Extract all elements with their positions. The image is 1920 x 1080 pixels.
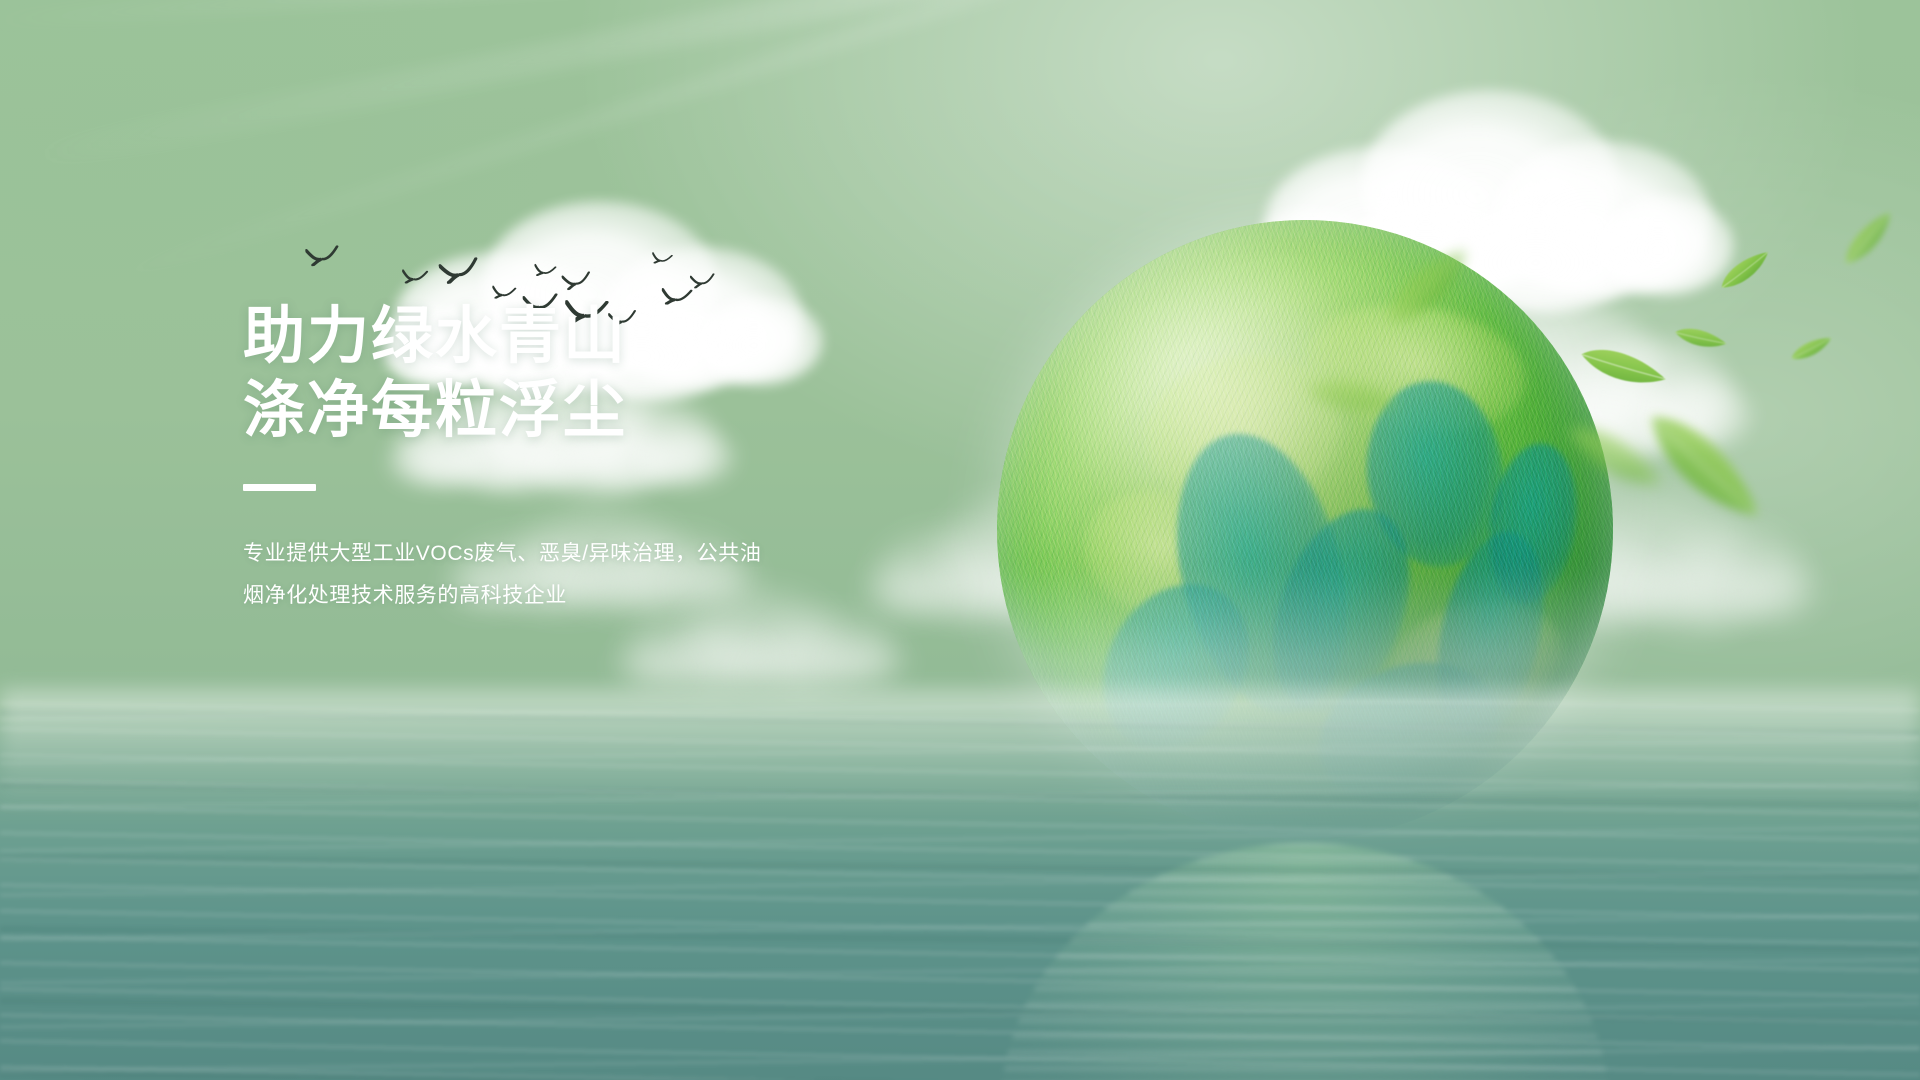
water-mist: [0, 690, 1920, 810]
headline-line-2: 涤净每粒浮尘: [243, 374, 1003, 448]
bird-icon: [438, 257, 481, 285]
bird-icon: [401, 269, 428, 285]
hero-subtitle: 专业提供大型工业VOCs废气、恶臭/异味治理，公共油烟净化处理技术服务的高科技企…: [243, 533, 783, 617]
bird-icon: [561, 271, 592, 290]
cloud-puff: [735, 640, 853, 694]
eco-hero-banner: 助力绿水青山 涤净每粒浮尘 专业提供大型工业VOCs废气、恶臭/异味治理，公共油…: [0, 0, 1920, 1080]
light-ray: [8, 0, 1152, 176]
cloud-puff: [1660, 523, 1804, 621]
leaf-icon: [1834, 207, 1906, 273]
cloud-puff: [623, 615, 763, 687]
headline-divider: [243, 484, 316, 491]
bird-icon: [305, 245, 341, 266]
bird-icon: [651, 252, 674, 266]
bird-icon: [533, 264, 557, 279]
leaf-icon: [1787, 333, 1837, 366]
cloud-puff: [760, 612, 894, 686]
cloud-puff: [824, 638, 908, 685]
cloud-puff: [1643, 377, 1751, 450]
cloud-puff: [1633, 560, 1759, 632]
leaf-icon: [1713, 246, 1778, 297]
hero-copy: 助力绿水青山 涤净每粒浮尘 专业提供大型工业VOCs废气、恶臭/异味治理，公共油…: [243, 300, 1003, 617]
light-ray: [82, 0, 1153, 295]
bird-icon: [491, 285, 517, 300]
cloud-puff: [670, 639, 782, 691]
cloud-puff: [614, 644, 692, 687]
cloud-puff: [1729, 558, 1819, 620]
bird-icon: [690, 273, 716, 288]
cloud-puff: [1596, 196, 1734, 295]
headline-line-1: 助力绿水青山: [243, 300, 1003, 374]
leaf-icon: [1629, 392, 1770, 548]
light-ray: [0, 0, 1151, 32]
leaf-icon: [1671, 320, 1729, 361]
